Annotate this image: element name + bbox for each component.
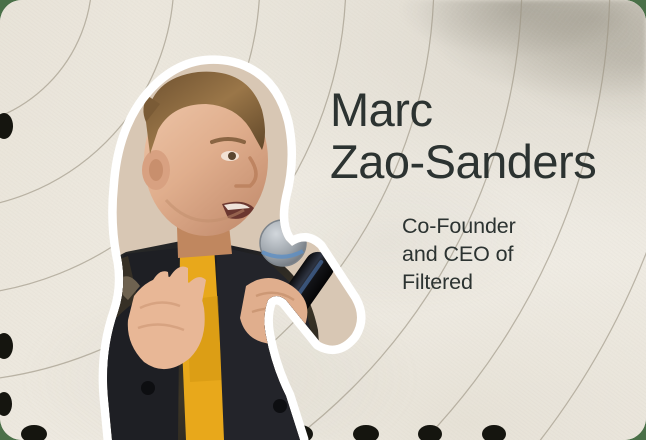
speaker-photo	[0, 0, 380, 440]
speaker-role: Co-Founder and CEO of Filtered	[402, 212, 630, 296]
speaker-card-stage: Marc Zao-Sanders Co-Founder and CEO of F…	[0, 0, 646, 440]
speaker-card: Marc Zao-Sanders Co-Founder and CEO of F…	[0, 0, 646, 440]
speaker-text-block: Marc Zao-Sanders Co-Founder and CEO of F…	[330, 84, 630, 296]
jacket-button	[141, 381, 155, 395]
speaker-name: Marc Zao-Sanders	[330, 84, 630, 188]
eye	[228, 152, 236, 160]
